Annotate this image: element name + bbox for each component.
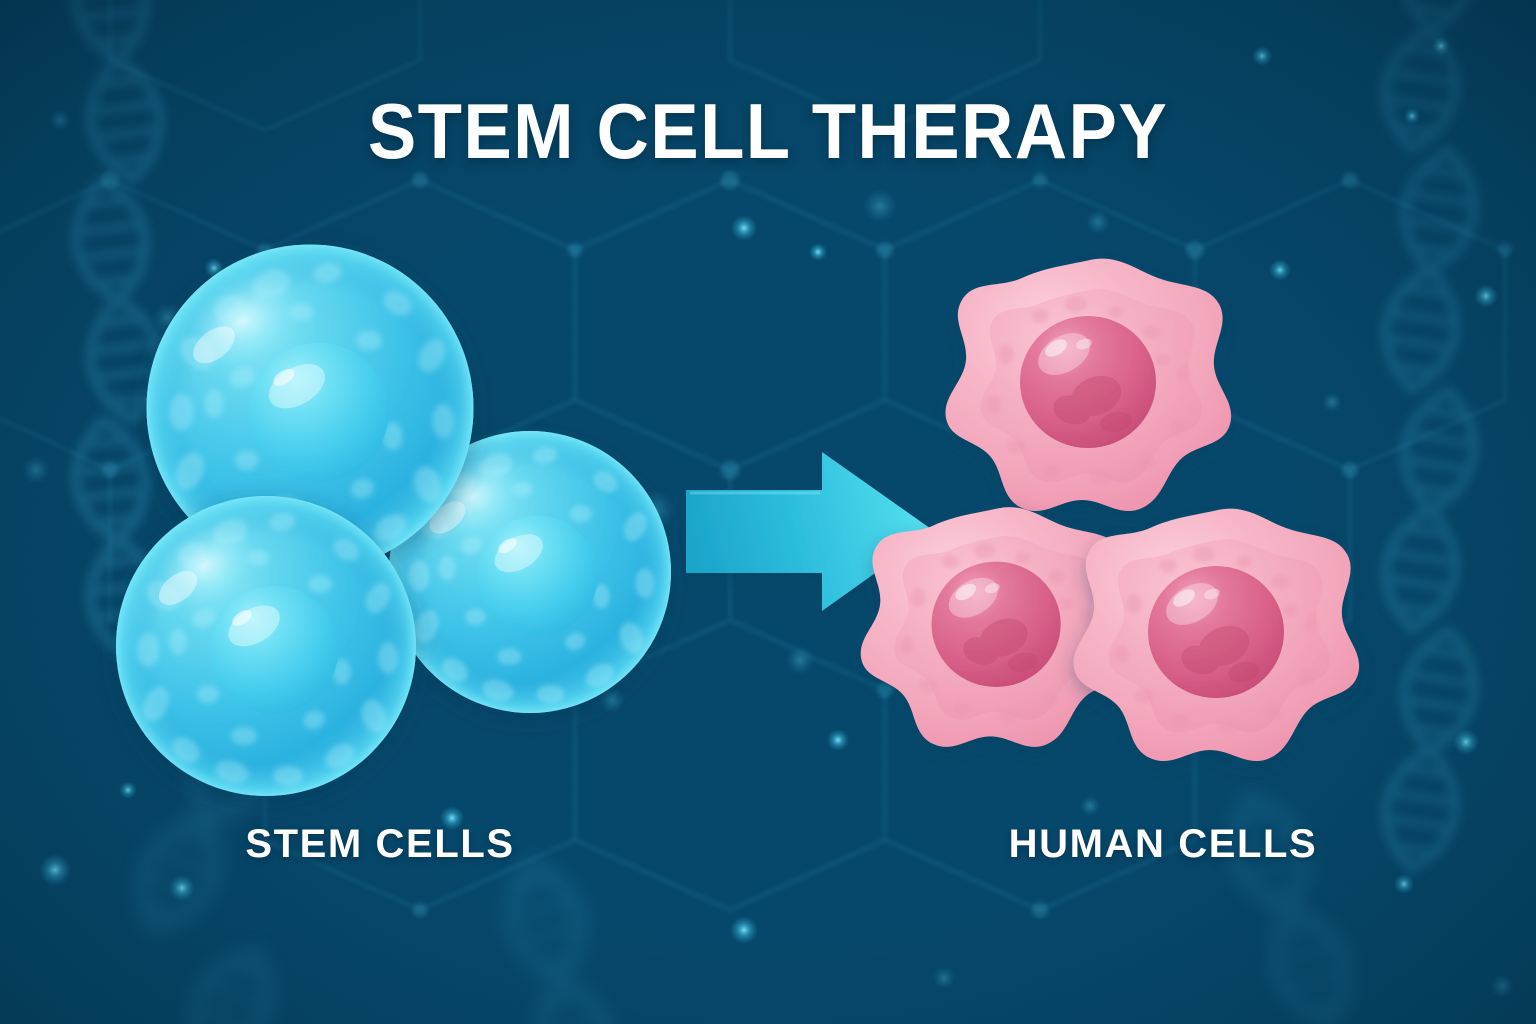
stem-cells-label: STEM CELLS [0, 824, 760, 864]
poster-canvas: STEM CELL THERAPY [0, 0, 1536, 1024]
stem-cell-2 [116, 496, 416, 796]
stem-cell-1 [147, 245, 474, 572]
transformation-arrow [682, 448, 942, 618]
arrow-shape [686, 452, 934, 611]
human-cell-1 [946, 259, 1232, 511]
molecule-node [101, 171, 1512, 918]
human-cell-2 [861, 507, 1132, 747]
stem-cell-3 [389, 431, 671, 713]
human-cell-3 [1074, 509, 1360, 761]
page-title: STEM CELL THERAPY [54, 92, 1482, 170]
human-cell-group [868, 258, 1428, 778]
dna-helix-watermark [497, 855, 622, 1024]
stem-cell-group [118, 242, 718, 812]
human-cells-label: HUMAN CELLS [790, 824, 1536, 864]
